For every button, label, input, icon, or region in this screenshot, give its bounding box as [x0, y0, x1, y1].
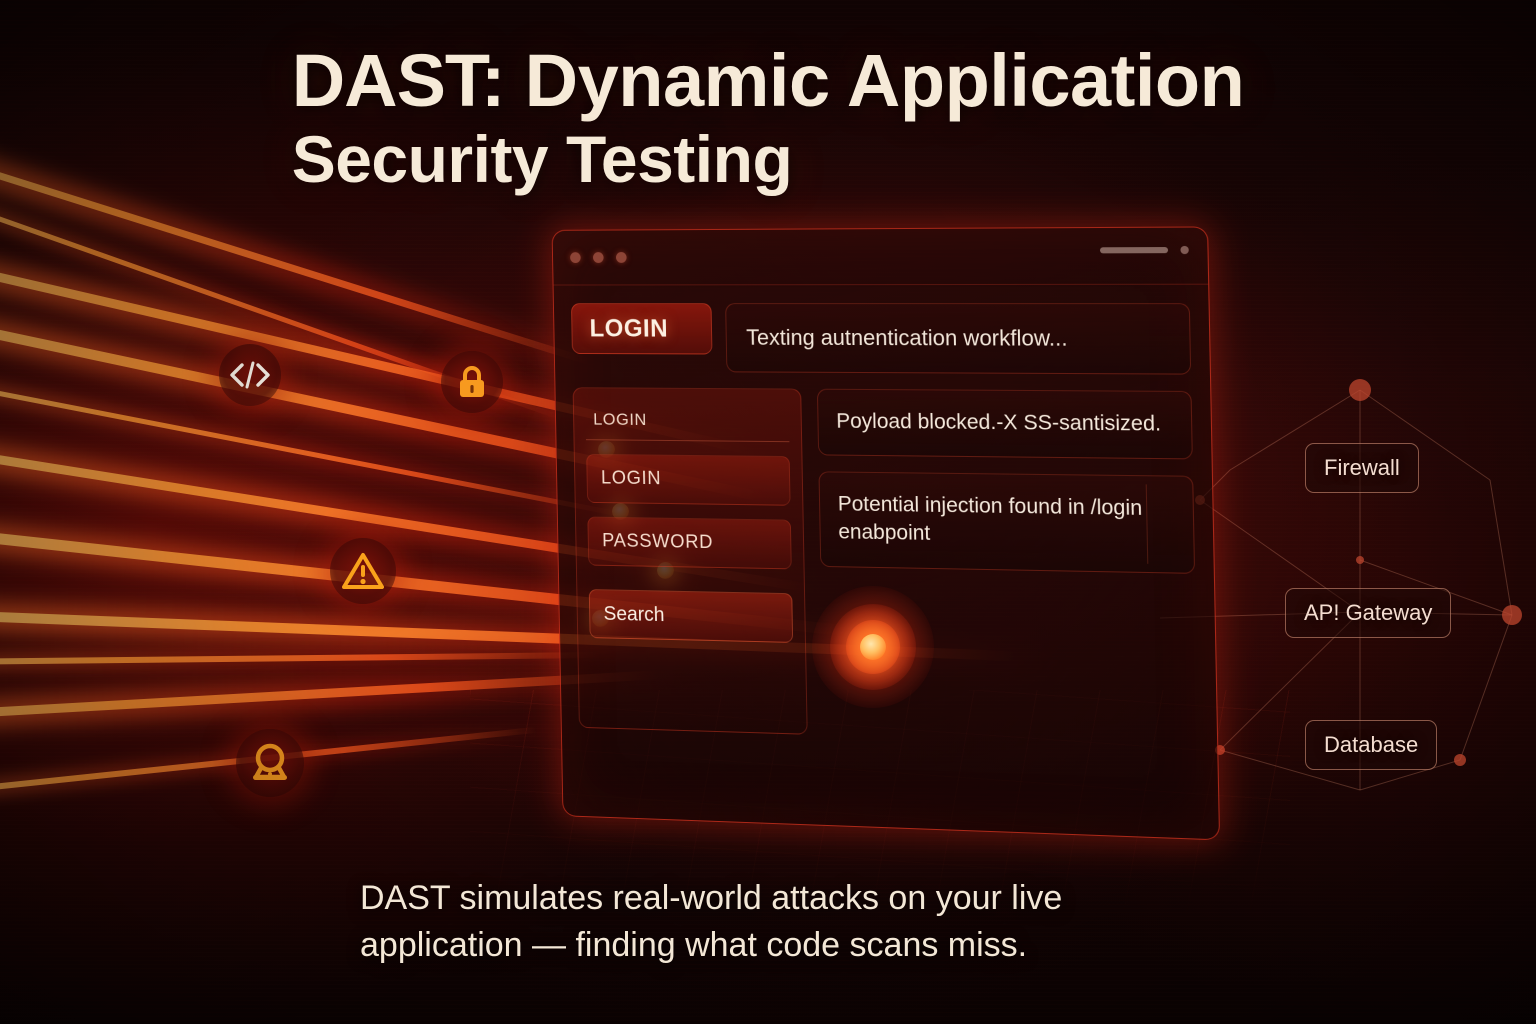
- window-pin-dot[interactable]: [1180, 246, 1188, 254]
- search-button[interactable]: Search: [589, 589, 793, 643]
- page-caption: DAST simulates real-world attacks on you…: [360, 875, 1190, 969]
- bug-icon: [249, 741, 291, 785]
- page-title: DAST: Dynamic Application Security Testi…: [0, 44, 1536, 192]
- browser-window: LOGIN Texting autnentication workflow...…: [552, 226, 1221, 840]
- code-icon: [228, 360, 272, 390]
- warning-icon: [342, 552, 384, 590]
- code-icon-badge: [219, 344, 281, 406]
- window-controls[interactable]: [570, 252, 627, 263]
- node-firewall[interactable]: Firewall: [1305, 443, 1419, 493]
- tab-login[interactable]: LOGIN: [571, 303, 712, 354]
- form-section-label: LOGIN: [585, 402, 789, 442]
- title-dast: DAST:: [292, 39, 505, 122]
- lock-icon-badge: [441, 351, 503, 413]
- url-input[interactable]: Texting autnentication workflow...: [725, 303, 1191, 375]
- poster-canvas: DAST: Dynamic Application Security Testi…: [0, 0, 1536, 1024]
- alert-potential-injection: Potential injection found in /login enab…: [818, 471, 1195, 574]
- lock-icon: [455, 363, 489, 401]
- caption-line-1: DAST simulates real-world attacks on you…: [360, 875, 1190, 922]
- login-form-card: LOGIN LOGIN PASSWORD Search: [573, 387, 808, 735]
- alert-text: Potential injection found in /login enab…: [838, 492, 1143, 545]
- login-form-column: LOGIN LOGIN PASSWORD Search: [573, 387, 808, 735]
- warning-icon-badge: [330, 538, 396, 604]
- browser-toolbar: LOGIN Texting autnentication workflow...: [571, 303, 1191, 375]
- window-maximize-dot[interactable]: [616, 252, 627, 263]
- alert-payload-blocked: Poyload blocked.-X SS-santisized.: [817, 389, 1193, 459]
- alert-divider: [1146, 484, 1149, 563]
- titlebar-right-controls: [1100, 246, 1189, 254]
- window-minimize-dot[interactable]: [593, 252, 604, 263]
- title-line1-rest: Dynamic Application: [525, 39, 1245, 122]
- caption-line-2: application — finding what code scans mi…: [360, 922, 1190, 969]
- login-input[interactable]: LOGIN: [586, 454, 790, 506]
- browser-content: LOGIN Texting autnentication workflow...…: [554, 285, 1219, 840]
- attack-impact-pulse: [812, 586, 934, 708]
- password-input[interactable]: PASSWORD: [587, 517, 791, 570]
- attack-beam: [0, 652, 600, 666]
- title-line2: Security Testing: [292, 126, 1245, 192]
- window-close-dot[interactable]: [570, 252, 581, 263]
- node-api-gateway[interactable]: AP! Gateway: [1285, 588, 1451, 638]
- pulse-core: [860, 634, 886, 660]
- window-drag-handle[interactable]: [1100, 247, 1168, 253]
- browser-titlebar: [553, 227, 1209, 285]
- node-database[interactable]: Database: [1305, 720, 1437, 770]
- bug-icon-badge: [236, 729, 304, 797]
